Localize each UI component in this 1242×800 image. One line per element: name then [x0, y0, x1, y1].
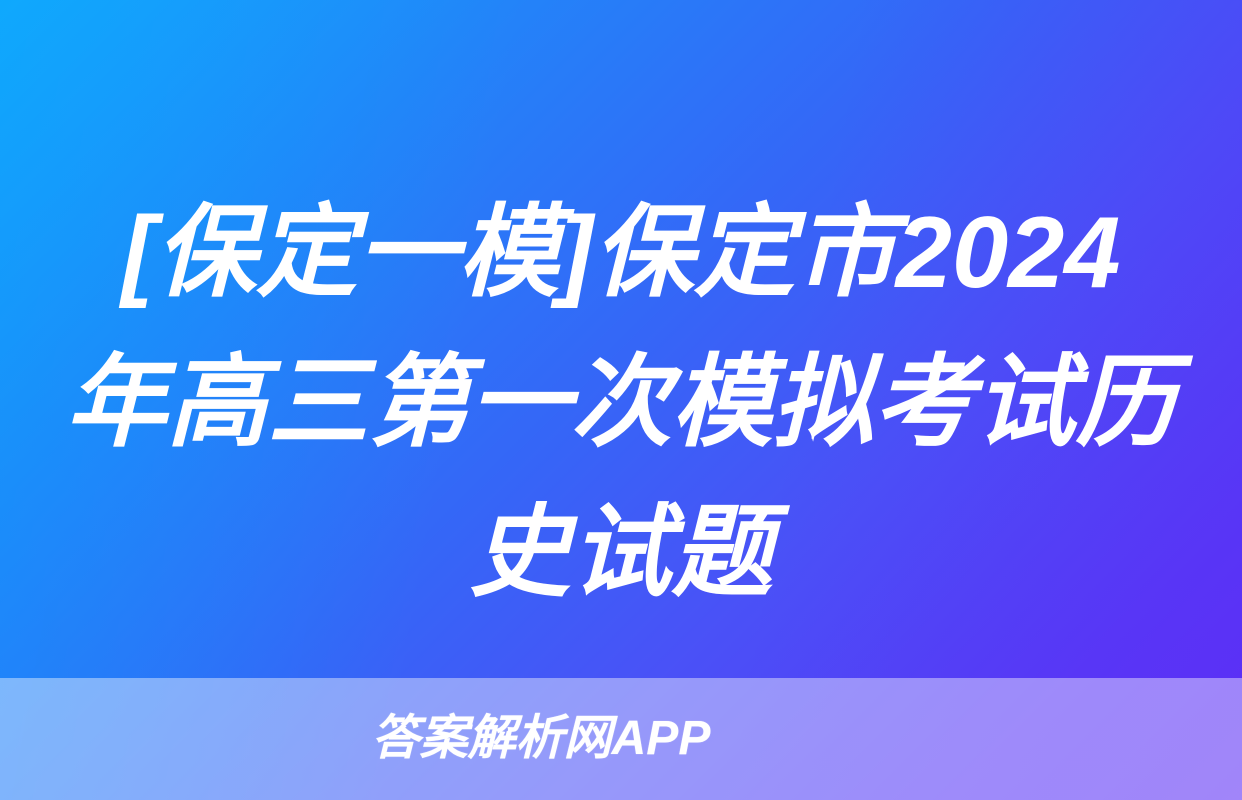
watermark-band: 答案解析网APP	[0, 678, 1242, 800]
app-watermark-label: 答案解析网APP	[372, 715, 711, 763]
title-line-3: 史试题	[58, 478, 1184, 628]
exam-paper-banner: [保定一模]保定市2024 年高三第一次模拟考试历 史试题 答案解析网APP	[0, 0, 1242, 800]
page-title: [保定一模]保定市2024 年高三第一次模拟考试历 史试题	[0, 178, 1242, 628]
title-line-1: [保定一模]保定市2024	[58, 178, 1184, 328]
title-line-2: 年高三第一次模拟考试历	[58, 328, 1184, 478]
